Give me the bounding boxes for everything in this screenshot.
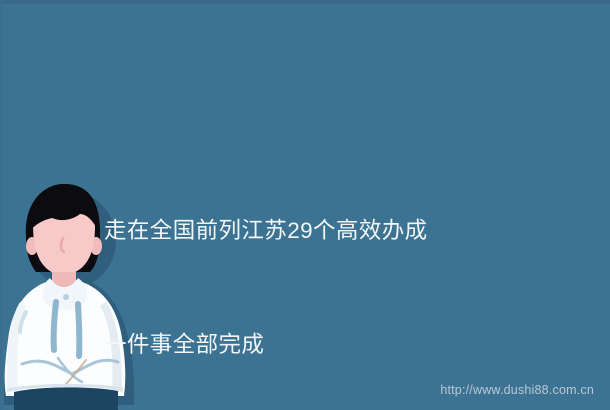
headline-line-1: 走在全国前列江苏29个高效办成 bbox=[104, 212, 584, 250]
image-canvas: 走在全国前列江苏29个高效办成 一件事全部完成 http://www.dushi… bbox=[0, 0, 610, 410]
drawstring-right bbox=[78, 304, 79, 356]
top-edge-band bbox=[0, 0, 610, 4]
headline: 走在全国前列江苏29个高效办成 一件事全部完成 bbox=[104, 136, 584, 410]
watermark-url: http://www.dushi88.com.cn bbox=[440, 383, 594, 397]
drawstring-eyelet bbox=[63, 294, 69, 300]
pants bbox=[14, 387, 118, 410]
headline-line-2: 一件事全部完成 bbox=[104, 326, 584, 364]
drawstring-left bbox=[54, 302, 56, 350]
